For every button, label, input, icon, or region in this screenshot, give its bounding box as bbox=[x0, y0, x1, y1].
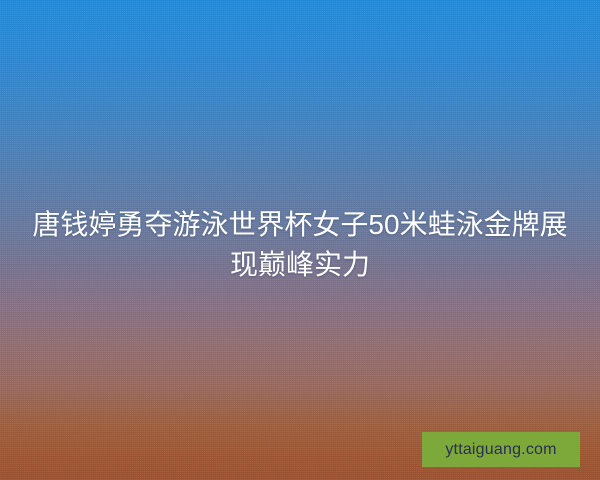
banner-headline: 唐钱婷勇夺游泳世界杯女子50米蛙泳金牌展现巅峰实力 bbox=[0, 205, 600, 285]
watermark-site-label: yttaiguang.com bbox=[445, 442, 556, 458]
watermark-badge: yttaiguang.com bbox=[422, 432, 580, 467]
promo-banner: 唐钱婷勇夺游泳世界杯女子50米蛙泳金牌展现巅峰实力 yttaiguang.com bbox=[0, 0, 600, 480]
